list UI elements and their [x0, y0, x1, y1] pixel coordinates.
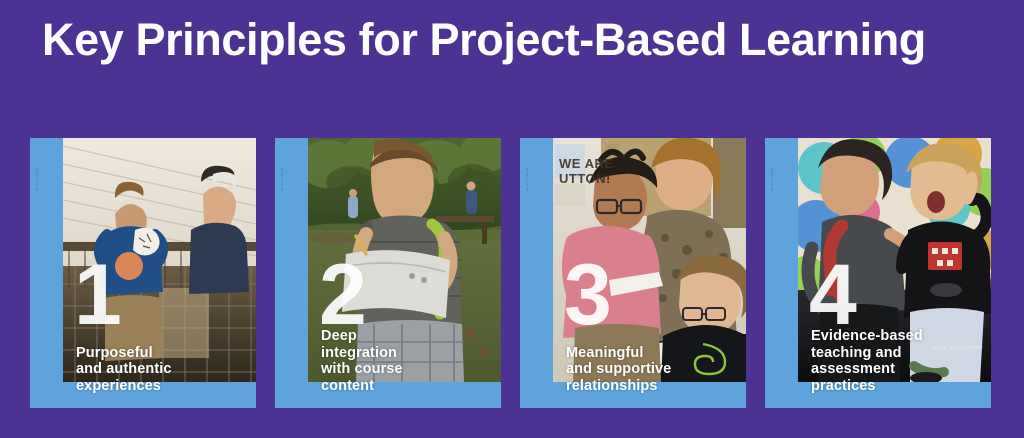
card-4-rail-credit: photo credit: [770, 168, 775, 238]
card-2-rail-credit: photo credit: [280, 168, 285, 238]
page-title: Key Principles for Project-Based Learnin…: [42, 13, 926, 66]
card-4-caption: Evidence-based teaching and assessment p…: [811, 328, 981, 394]
principle-card-4[interactable]: Photo: Allison Shelley photo credit 4 Ev…: [765, 138, 991, 408]
principle-card-1[interactable]: photo photo credit 1 Purposeful and auth…: [30, 138, 256, 408]
card-3-poster-text: WE ARE UTTON!: [559, 156, 614, 186]
card-3-rail: photo credit: [520, 138, 553, 408]
card-1-rail: photo credit: [30, 138, 63, 408]
card-1-caption: Purposeful and authentic experiences: [76, 345, 246, 395]
card-1-rail-credit: photo credit: [35, 168, 40, 238]
card-4-rail: photo credit: [765, 138, 798, 408]
card-3-rail-credit: photo credit: [525, 168, 530, 238]
card-2-caption: Deep integration with course content: [321, 328, 491, 394]
principles-card-row: photo photo credit 1 Purposeful and auth…: [30, 138, 996, 408]
principle-card-2[interactable]: photo credit 2 Deep integration with cou…: [275, 138, 501, 408]
card-2-rail: photo credit: [275, 138, 308, 408]
card-3-caption: Meaningful and supportive relationships: [566, 345, 736, 395]
principle-card-3[interactable]: WE ARE UTTON! photo credit 3 Meaningful …: [520, 138, 746, 408]
